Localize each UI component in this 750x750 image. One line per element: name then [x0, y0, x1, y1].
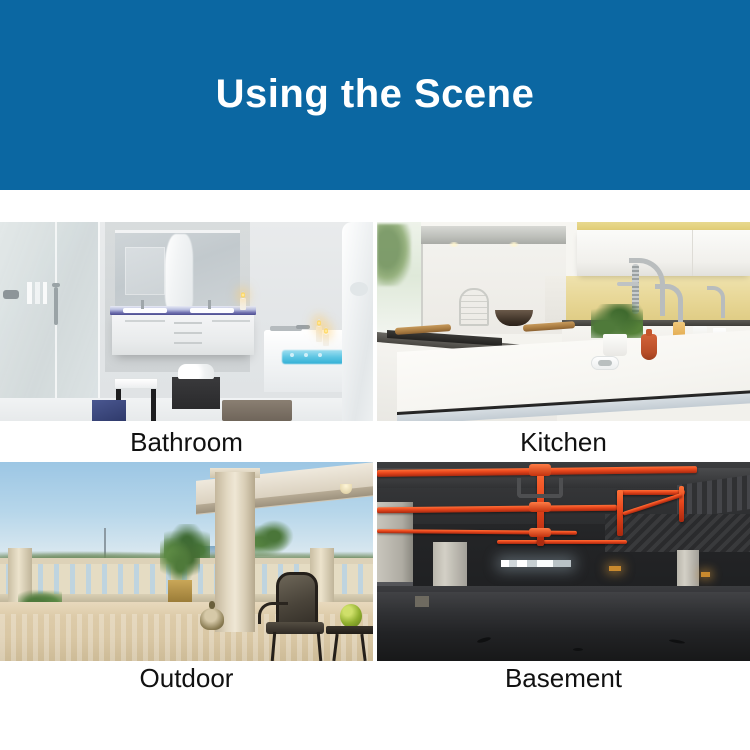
scene-caption-basement: Basement: [377, 661, 750, 712]
scene-caption-bathroom: Bathroom: [0, 421, 373, 462]
scene-caption-kitchen: Kitchen: [377, 421, 750, 462]
scene-card-outdoor[interactable]: [0, 462, 373, 661]
scene-grid: Bathroom Kitchen: [0, 222, 750, 712]
scene-label-kitchen: Kitchen: [520, 429, 607, 455]
scene-card-kitchen[interactable]: [377, 222, 750, 421]
basement-image: [377, 462, 750, 661]
page-root: Using the Scene: [0, 0, 750, 750]
scene-card-basement[interactable]: [377, 462, 750, 661]
bathroom-image: [0, 222, 373, 421]
scene-card-bathroom[interactable]: [0, 222, 373, 421]
scene-label-outdoor: Outdoor: [140, 665, 234, 691]
outdoor-image: [0, 462, 373, 661]
kitchen-image: [377, 222, 750, 421]
scene-label-bathroom: Bathroom: [130, 429, 243, 455]
page-title: Using the Scene: [216, 74, 535, 116]
scene-caption-outdoor: Outdoor: [0, 661, 373, 712]
scene-label-basement: Basement: [505, 665, 622, 691]
page-header: Using the Scene: [0, 0, 750, 190]
